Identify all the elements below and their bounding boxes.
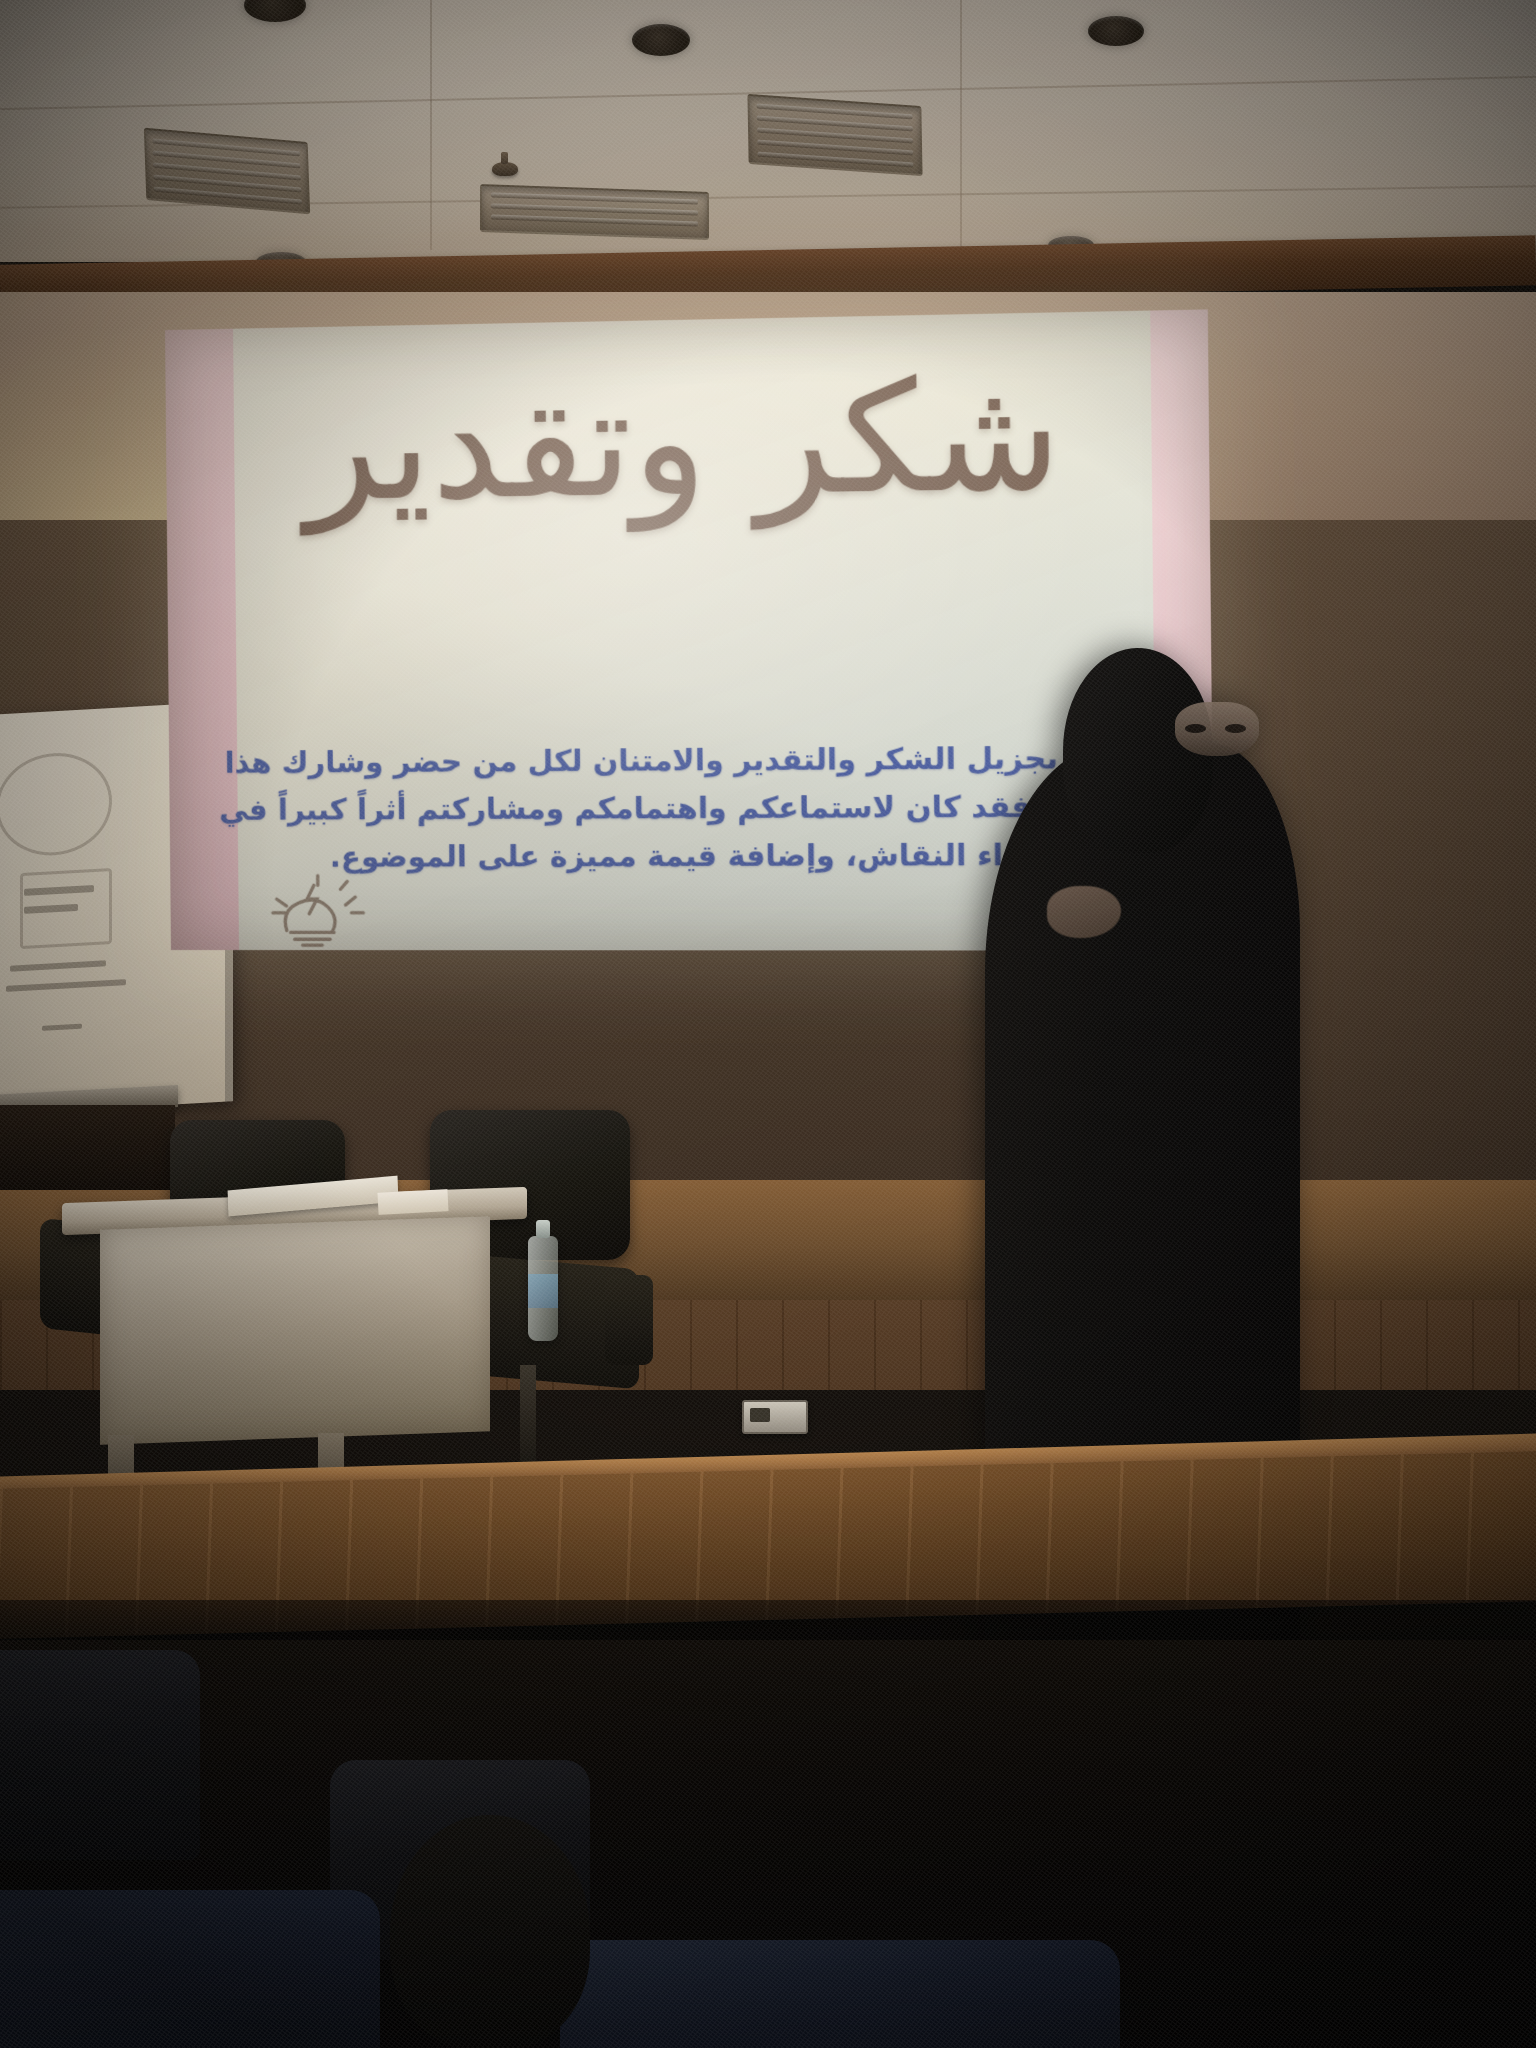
presenter-eye <box>1185 724 1206 733</box>
audience-member-silhouette <box>390 1815 590 2048</box>
auditorium-seat <box>560 1940 1120 2048</box>
auditorium-seat <box>0 1890 380 2048</box>
brainstorm-idea-icon <box>256 870 376 949</box>
ceiling-seam <box>430 0 432 250</box>
desk-front-panel <box>100 1216 490 1445</box>
ceiling-air-vent <box>144 128 310 215</box>
bottle-label <box>528 1274 558 1308</box>
ceiling-seam <box>960 0 962 250</box>
auditorium-seat <box>0 1650 200 1860</box>
presenter-desk <box>78 1195 508 1485</box>
fire-sprinkler-head <box>492 162 518 176</box>
photo-scene: شكر وتقدير أتقدم بجزيل الشكر والتقدير وا… <box>0 0 1536 2048</box>
papers-on-desk <box>377 1189 448 1215</box>
presenter-face <box>1175 702 1259 756</box>
water-bottle <box>528 1236 558 1341</box>
slide-title: شكر وتقدير <box>165 353 1209 530</box>
ceiling-air-vent <box>747 94 922 176</box>
recessed-downlight <box>1088 16 1144 46</box>
recessed-downlight <box>632 24 690 56</box>
presenter-head <box>1063 648 1213 853</box>
ceiling-air-vent <box>480 184 709 240</box>
auditorium-foreground <box>0 1640 1536 2048</box>
presenter-eye <box>1225 724 1246 733</box>
wall-power-outlet <box>742 1400 808 1434</box>
left-dark-corner <box>0 1105 175 1190</box>
